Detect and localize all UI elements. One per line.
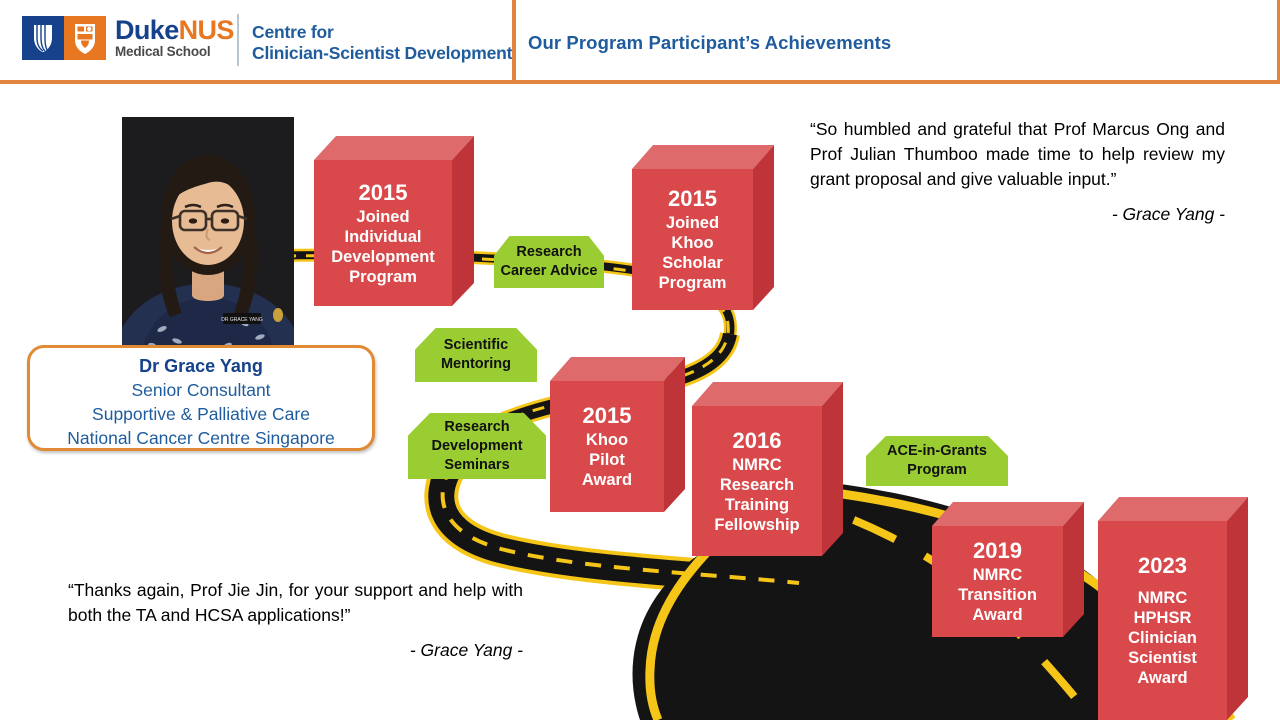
profile-role: Senior Consultant [30,378,372,402]
profile-name: Dr Grace Yang [30,354,372,378]
duke-shield-icon [22,16,64,60]
support-tag-research-development-seminars: Research Development Seminars [408,413,546,479]
milestone-year: 2023 [1138,553,1187,579]
support-tag-label: Research Career Advice [494,243,604,281]
milestone-label: NMRC Transition Award [958,565,1037,625]
profile-institution: National Cancer Centre Singapore [30,426,372,450]
logo-duke-text: Duke [115,15,179,45]
milestone-block-2016-nmrc-rtf: 2016 NMRC Research Training Fellowship [692,382,843,556]
centre-line-1: Centre for [252,22,512,43]
milestone-year: 2015 [359,180,408,206]
milestone-label: Joined Khoo Scholar Program [659,213,727,293]
nus-crest-icon [64,16,106,60]
quote-attribution: - Grace Yang - [68,638,523,663]
milestone-label: Joined Individual Development Program [331,207,435,287]
logo-nus-text: NUS [179,15,234,45]
header-bottom-rule [0,80,1280,84]
testimonial-quote-top: “So humbled and grateful that Prof Marcu… [810,117,1225,227]
centre-name: Centre for Clinician-Scientist Developme… [252,22,512,64]
milestone-block-2015-khoo-pilot: 2015 Khoo Pilot Award [550,357,685,512]
logo-divider [237,14,239,66]
avatar: DR GRACE YANG [122,117,294,349]
profile-card: Dr Grace Yang Senior Consultant Supporti… [27,345,375,451]
slide-canvas: DukeNUS Medical School Centre for Clinic… [0,0,1280,720]
support-tag-ace-in-grants-program: ACE-in-Grants Program [866,436,1008,486]
page-header: DukeNUS Medical School Centre for Clinic… [0,0,1280,82]
quote-text: “Thanks again, Prof Jie Jin, for your su… [68,580,523,625]
support-tag-scientific-mentoring: Scientific Mentoring [415,328,537,382]
milestone-year: 2019 [973,538,1022,564]
milestone-block-2019-nmrc-transition: 2019 NMRC Transition Award [932,502,1084,637]
dukenus-wordmark: DukeNUS Medical School [115,17,234,59]
milestone-block-2015-khoo-scholar: 2015 Joined Khoo Scholar Program [632,145,774,310]
milestone-label: NMRC HPHSR Clinician Scientist Award [1128,588,1197,688]
svg-text:DR GRACE YANG: DR GRACE YANG [221,317,263,323]
page-title: Our Program Participant’s Achievements [528,32,891,54]
quote-attribution: - Grace Yang - [810,202,1225,227]
support-tag-label: Scientific Mentoring [415,336,537,374]
support-tag-research-career-advice: Research Career Advice [494,236,604,288]
support-tag-label: Research Development Seminars [408,418,546,475]
milestone-block-2015-idp: 2015 Joined Individual Development Progr… [314,136,474,306]
milestone-block-2023-nmrc-hphsr: 2023 NMRC HPHSR Clinician Scientist Awar… [1098,497,1248,720]
quote-text: “So humbled and grateful that Prof Marcu… [810,119,1225,189]
milestone-label: NMRC Research Training Fellowship [714,455,799,535]
profile-department: Supportive & Palliative Care [30,402,372,426]
milestone-year: 2016 [733,428,782,454]
milestone-label: Khoo Pilot Award [582,430,632,490]
header-separator [512,0,516,80]
centre-line-2: Clinician-Scientist Development [252,43,512,64]
logo-school-text: Medical School [115,45,234,59]
milestone-year: 2015 [668,186,717,212]
testimonial-quote-bottom: “Thanks again, Prof Jie Jin, for your su… [68,578,523,663]
support-tag-label: ACE-in-Grants Program [866,442,1008,480]
dukenus-logo: DukeNUS Medical School [22,16,234,60]
milestone-year: 2015 [583,403,632,429]
